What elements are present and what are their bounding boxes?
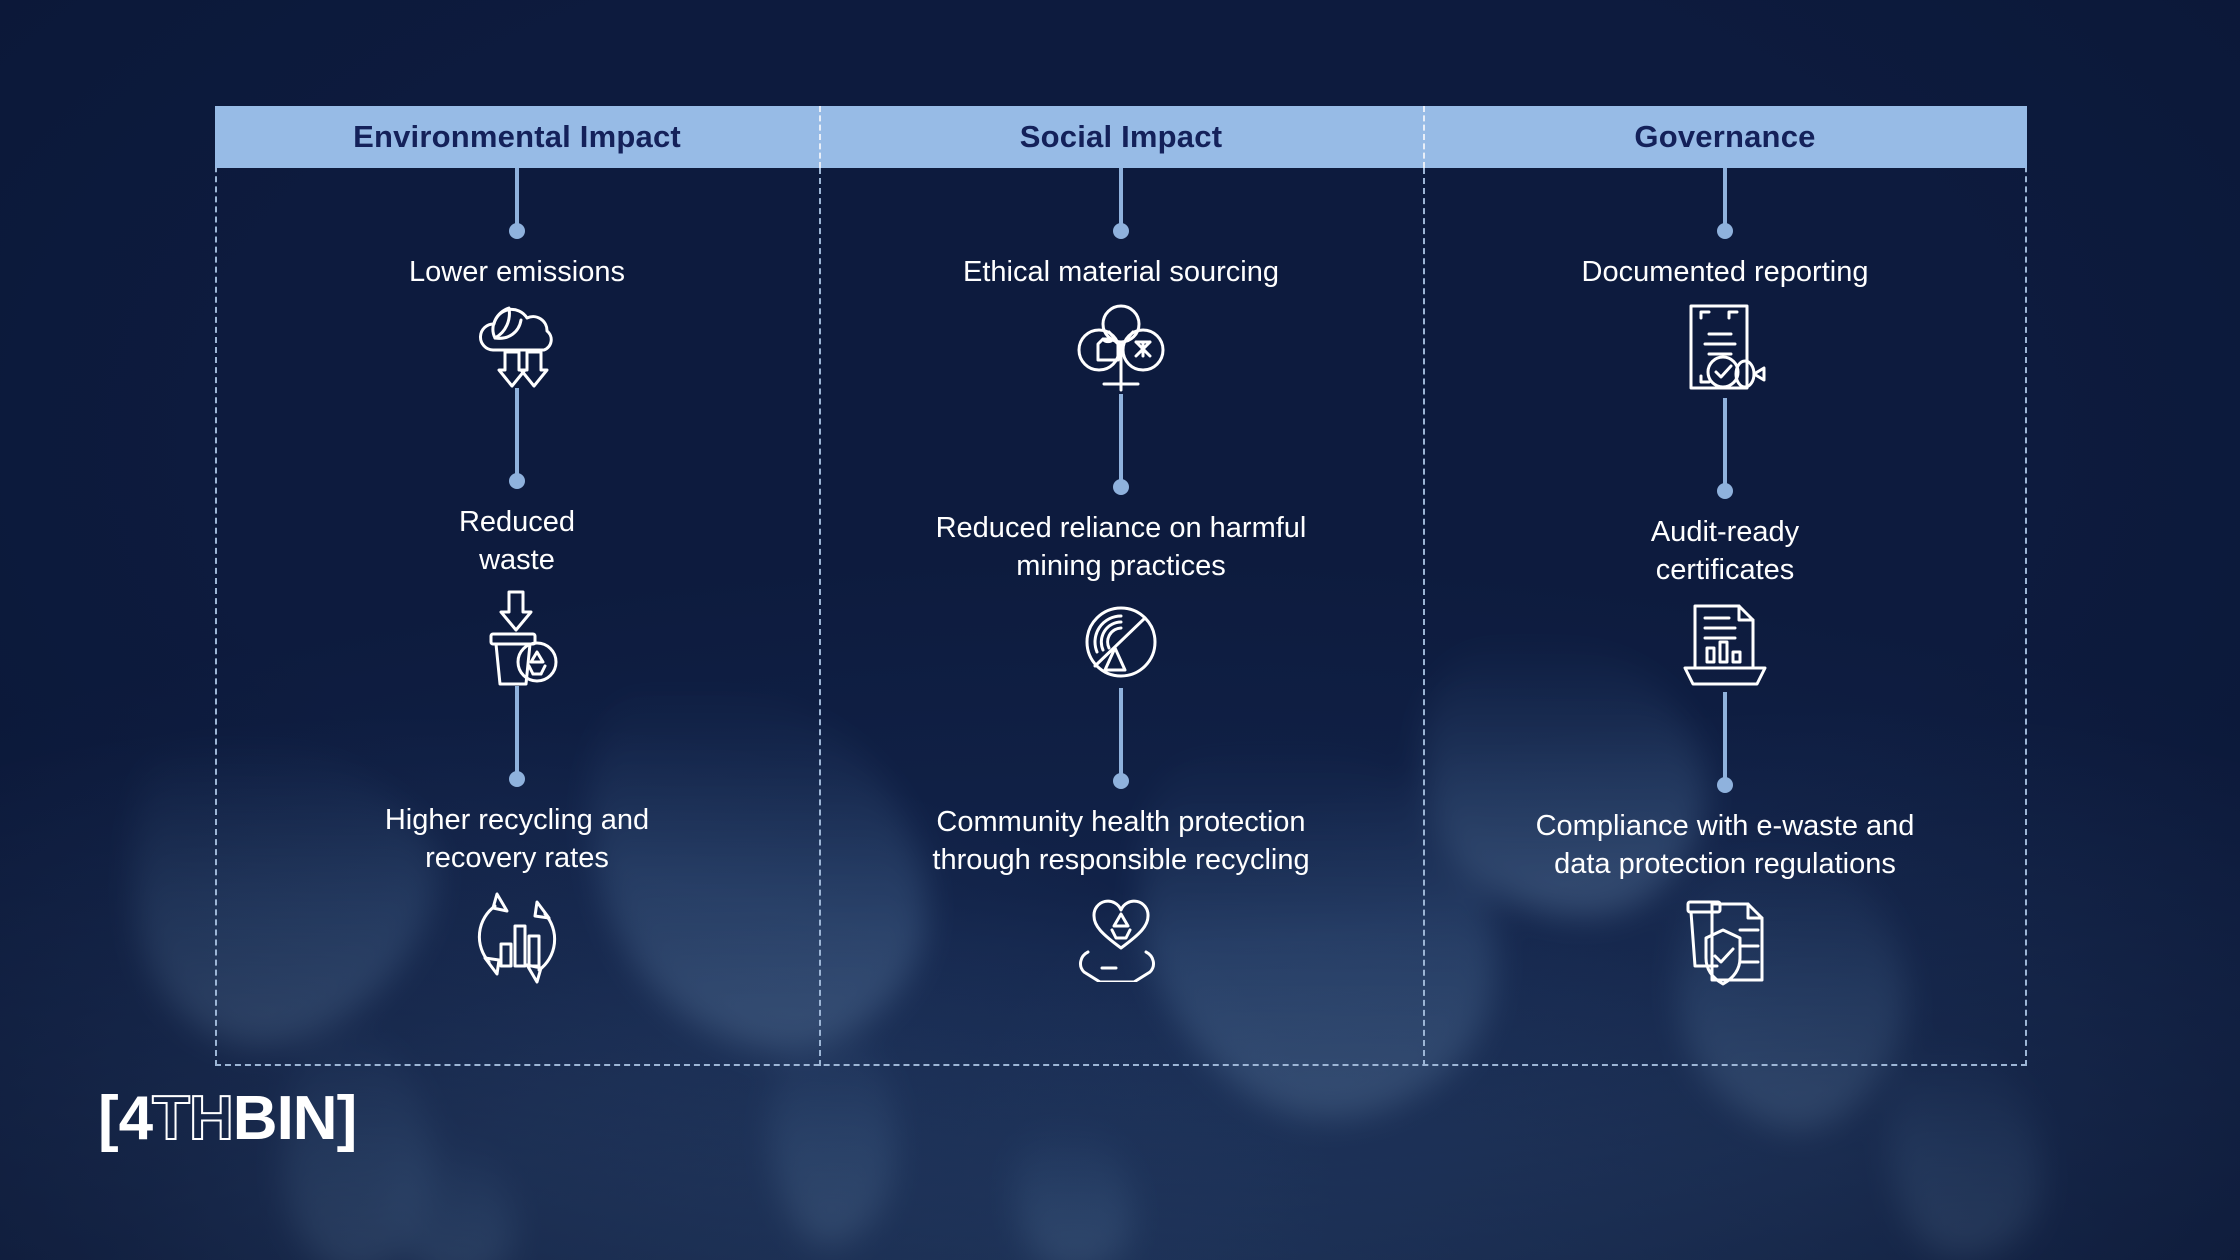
- connector-stem: [1723, 168, 1727, 224]
- node-label-audit-ready-certificates: Audit-readycertificates: [1641, 513, 1809, 590]
- node-label-lower-emissions: Lower emissions: [399, 253, 635, 292]
- documented-reporting-icon: [1679, 302, 1771, 398]
- ethical-material-sourcing-icon: [1074, 302, 1168, 394]
- column-header-governance: Governance: [1423, 106, 2027, 168]
- connector-dot: [1113, 479, 1129, 495]
- column-social-impact: Ethical material sourcing Reduced relian…: [819, 168, 1423, 1066]
- connector-stem: [1119, 394, 1123, 480]
- connector-stem: [1119, 688, 1123, 774]
- node-label-community-health: Community health protectionthrough respo…: [922, 803, 1319, 880]
- connector-dot: [509, 473, 525, 489]
- connector-dot: [1717, 483, 1733, 499]
- connector-stem: [1723, 398, 1727, 484]
- logo-bracket-open: [: [98, 1088, 119, 1150]
- lower-emissions-icon: [469, 302, 565, 388]
- community-health-recycling-icon: [1072, 890, 1170, 982]
- audit-ready-certificate-icon: [1677, 600, 1773, 692]
- brand-logo: [ 4 TH BIN ]: [98, 1088, 357, 1150]
- logo-text-4: 4: [119, 1088, 152, 1150]
- node-label-compliance-regulations: Compliance with e-waste anddata protecti…: [1526, 807, 1925, 884]
- no-mining-icon: [1075, 596, 1167, 688]
- node-label-reduced-mining-reliance: Reduced reliance on harmfulmining practi…: [926, 509, 1317, 586]
- column-header-governance-label: Governance: [1634, 119, 1815, 155]
- connector-dot: [1717, 223, 1733, 239]
- column-environmental-impact: Lower emissions Reducedwaste: [215, 168, 819, 1066]
- compliance-shield-document-icon: [1678, 894, 1772, 992]
- connector-dot: [1717, 777, 1733, 793]
- connector-dot: [509, 771, 525, 787]
- header-row: Environmental Impact Social Impact Gover…: [215, 106, 2027, 168]
- connector-dot: [1113, 223, 1129, 239]
- connector-stem: [1723, 692, 1727, 778]
- connector-stem: [515, 168, 519, 224]
- connector-stem: [1119, 168, 1123, 224]
- column-governance: Documented reporting Audit-readycertific…: [1423, 168, 2027, 1066]
- node-label-documented-reporting: Documented reporting: [1572, 253, 1879, 292]
- recycling-recovery-rates-icon: [467, 888, 567, 988]
- logo-text-bin: BIN: [233, 1088, 337, 1150]
- node-label-ethical-material-sourcing: Ethical material sourcing: [953, 253, 1289, 292]
- connector-dot: [1113, 773, 1129, 789]
- column-header-environmental-label: Environmental Impact: [353, 119, 681, 155]
- connector-stem: [515, 388, 519, 474]
- column-header-social: Social Impact: [819, 106, 1423, 168]
- connector-dot: [509, 223, 525, 239]
- node-label-higher-recycling: Higher recycling andrecovery rates: [375, 801, 659, 878]
- reduced-waste-bin-icon: [471, 590, 563, 686]
- connector-stem: [515, 686, 519, 772]
- column-header-environmental: Environmental Impact: [215, 106, 819, 168]
- node-label-reduced-waste: Reducedwaste: [449, 503, 585, 580]
- logo-bracket-close: ]: [337, 1088, 358, 1150]
- columns-container: Lower emissions Reducedwaste: [215, 168, 2027, 1066]
- logo-text-th: TH: [152, 1088, 233, 1150]
- column-header-social-label: Social Impact: [1020, 119, 1222, 155]
